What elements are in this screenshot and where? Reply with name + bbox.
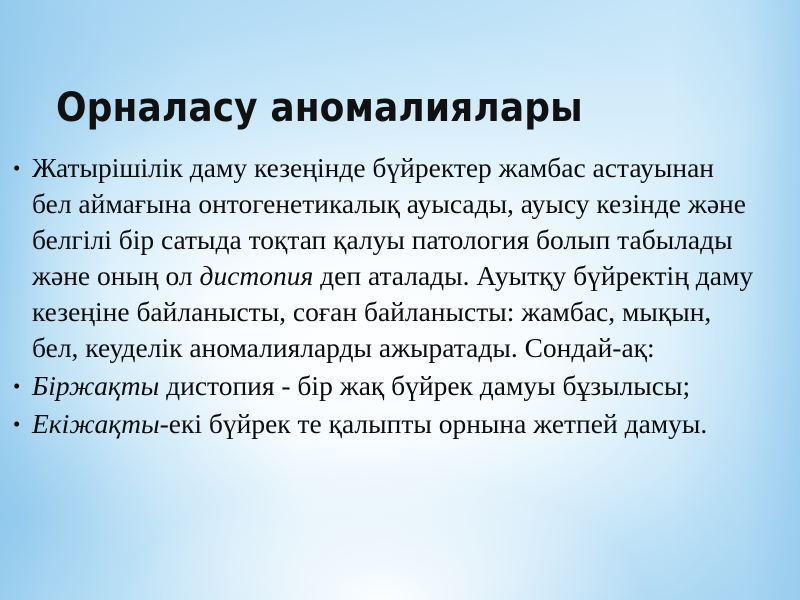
bullet-2-run-1: Біржақты	[32, 370, 159, 401]
bullet-3-run-1: Екіжақты	[32, 408, 160, 439]
bullet-3-run-2: -екі бүйрек те қалыпты орнына жетпей дам…	[160, 408, 708, 439]
presentation-slide: Орналасу аномалиялары Жатырішілік даму к…	[0, 0, 800, 600]
bullet-text-1: Жатырішілік даму кезеңінде бүйректер жам…	[32, 152, 753, 363]
bullet-text-3: Екіжақты-екі бүйрек те қалыпты орнына же…	[32, 408, 707, 439]
slide-body-bullet-list: Жатырішілік даму кезеңінде бүйректер жам…	[10, 150, 760, 442]
bullet-1-run-2: дистопия	[200, 260, 314, 291]
list-item: Жатырішілік даму кезеңінде бүйректер жам…	[10, 150, 760, 366]
bullet-2-run-2: дистопия - бір жақ бүйрек дамуы бұзылысы…	[159, 370, 690, 401]
slide-title: Орналасу аномалиялары	[56, 83, 756, 133]
bullet-text-2: Біржақты дистопия - бір жақ бүйрек дамуы…	[32, 370, 690, 401]
slide-content: Орналасу аномалиялары Жатырішілік даму к…	[0, 0, 800, 600]
list-item: Біржақты дистопия - бір жақ бүйрек дамуы…	[10, 368, 760, 404]
list-item: Екіжақты-екі бүйрек те қалыпты орнына же…	[10, 406, 760, 442]
